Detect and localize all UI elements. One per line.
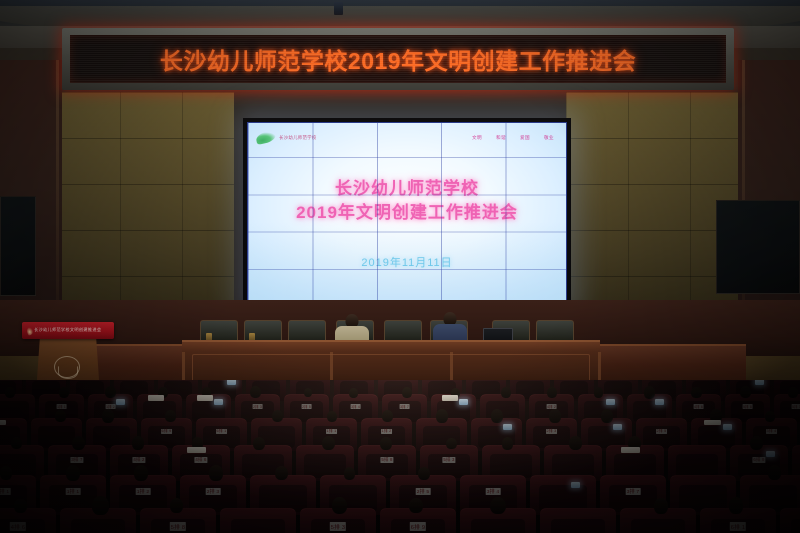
slide-word-4: 敬业 — [544, 135, 554, 141]
audience-member — [446, 438, 456, 450]
seat-number-label: 1排 1 — [56, 404, 67, 409]
phone-screen — [723, 424, 732, 430]
seat-number-label: 6排 1 — [730, 522, 746, 531]
document-paper — [0, 420, 6, 426]
slide-title-line-1: 长沙幼儿师范学校 — [248, 177, 566, 201]
podium-swoosh-icon — [26, 326, 34, 335]
audience-member — [402, 387, 412, 398]
audience-member — [740, 386, 751, 398]
audience-member — [491, 409, 503, 422]
audience-member — [250, 386, 261, 398]
audience-member — [501, 387, 511, 398]
auditorium-scene: 长沙幼儿师范学校2019年文明创建工作推进会 长沙幼儿师范学校 文明 和谐 爱国… — [0, 0, 800, 533]
audience-member — [382, 410, 393, 422]
podium-emblem-icon — [54, 356, 80, 378]
seat-cushion — [791, 519, 800, 533]
document-paper — [187, 447, 207, 453]
slide-title: 长沙幼儿师范学校 2019年文明创建工作推进会 — [248, 177, 566, 225]
audience-seat — [220, 508, 296, 533]
seat-number-label: 4排 6 — [194, 457, 207, 463]
audience-member — [92, 496, 109, 515]
seat-number-label: 3排 4 — [766, 429, 778, 434]
audience-member — [272, 410, 283, 422]
wall-seam-left — [56, 60, 59, 340]
seat-number-label: 4排 2 — [546, 404, 557, 409]
document-paper — [704, 420, 721, 426]
seat-number-label: 3排 7 — [399, 404, 410, 409]
phone-screen — [655, 399, 664, 405]
audience-member — [750, 436, 763, 450]
seat-number-label: 6排 9 — [410, 522, 426, 531]
audience-member — [66, 465, 80, 481]
slide-top-right-words: 文明 和谐 爱国 敬业 — [472, 135, 554, 141]
seat-cushion — [471, 519, 526, 533]
slide-logo: 长沙幼儿师范学校 — [256, 132, 317, 143]
audience-member — [549, 409, 561, 422]
seat-cushion — [71, 519, 126, 533]
slide-logo-text: 长沙幼儿师范学校 — [279, 135, 317, 141]
seat-cushion — [631, 519, 686, 533]
phone-screen — [214, 399, 223, 405]
audience-member — [502, 437, 514, 450]
audience-seat — [540, 508, 616, 533]
audience-member — [409, 498, 423, 513]
seat-number-label: 2排 5 — [416, 488, 431, 495]
phone-screen — [755, 380, 764, 385]
audience-member — [380, 437, 392, 450]
audience-member — [768, 465, 782, 480]
slide-word-1: 文明 — [472, 135, 482, 141]
document-paper — [148, 395, 163, 400]
wall-display-panel-right — [716, 200, 800, 294]
audience-member — [418, 467, 430, 480]
audience-member — [654, 498, 668, 514]
seat-number-label: 2排 5 — [301, 404, 312, 409]
seat-number-label: 1排 2 — [136, 488, 151, 495]
audience-member — [209, 465, 224, 481]
seat-number-label: 6排 9 — [752, 457, 765, 463]
phone-screen — [571, 482, 580, 488]
seat-number-label: 3排 7 — [626, 488, 641, 495]
seat-number-label: 4排 2 — [132, 457, 145, 463]
audience-member — [134, 465, 149, 481]
seat-cushion — [551, 519, 606, 533]
phone-screen — [766, 451, 775, 457]
wall-display-panel-left — [0, 196, 36, 296]
seat-number-label: 6排 1 — [216, 429, 228, 434]
phone-screen — [613, 424, 622, 430]
audience-member — [0, 466, 12, 480]
seat-number-label: 1排 2 — [105, 404, 116, 409]
audience-seat: 4排 6 — [0, 508, 56, 533]
document-paper — [621, 447, 641, 453]
phone-screen — [606, 399, 615, 405]
seat-number-label: 2排 5 — [656, 429, 668, 434]
audience-member — [436, 409, 448, 422]
podium-banner: 长沙幼儿师范学校文明创建推进会 — [22, 322, 114, 339]
audience-member — [59, 387, 69, 398]
audience-member — [691, 387, 701, 398]
audience-member — [275, 466, 288, 480]
seat-number-label: 1排 2 — [381, 429, 393, 434]
slide-date: 2019年11月11日 — [248, 254, 566, 270]
audience-member — [349, 388, 358, 398]
seat-number-label: 3排 4 — [350, 404, 361, 409]
audience-member — [14, 499, 27, 513]
audience-member — [102, 409, 114, 422]
audience-member — [327, 411, 337, 422]
audience-seating: 1排 11排 22排 32排 53排 43排 74排 24排 65排 85排 3… — [0, 380, 800, 533]
audience-member — [105, 386, 116, 398]
seat-number-label: 5排 3 — [791, 404, 800, 409]
audience-member — [253, 437, 265, 450]
seat-number-label: 1排 1 — [326, 429, 338, 434]
audience-member — [72, 436, 85, 451]
podium-banner-text: 长沙幼儿师范学校文明创建推进会 — [34, 327, 101, 333]
audience-member — [165, 410, 176, 422]
seat-number-label: 4排 6 — [693, 404, 704, 409]
seat-number-label: 2排 3 — [252, 404, 263, 409]
seat-number-label: 5排 3 — [442, 457, 455, 463]
slide-title-line-2: 2019年文明创建工作推进会 — [248, 201, 566, 225]
audience-member — [594, 387, 603, 397]
seat-number-label: 5排 8 — [170, 522, 186, 531]
slide-word-3: 爱国 — [520, 135, 530, 141]
audience-member — [788, 387, 798, 399]
phone-screen — [503, 424, 512, 430]
seat-number-label: 3排 4 — [486, 488, 501, 495]
audience-member — [5, 387, 15, 398]
audience-member — [11, 437, 22, 449]
seat-number-label: 6排 9 — [161, 429, 173, 434]
seat-number-label: 5排 3 — [330, 522, 346, 531]
slide-word-2: 和谐 — [496, 135, 506, 141]
phone-screen — [116, 399, 125, 405]
document-paper — [197, 395, 212, 400]
seat-number-label: 2排 3 — [546, 429, 558, 434]
seat-cushion — [231, 519, 286, 533]
seat-number-label: 3排 7 — [70, 457, 83, 463]
projection-screen-surface: 长沙幼儿师范学校 文明 和谐 爱国 敬业 长沙幼儿师范学校 2019年文明创建工… — [247, 122, 567, 308]
seat-number-label: 4排 6 — [10, 522, 26, 531]
swoosh-icon — [255, 130, 277, 145]
audience-member — [644, 386, 655, 399]
led-banner-text: 长沙幼儿师范学校2019年文明创建工作推进会 — [160, 42, 636, 76]
audience-member — [55, 410, 65, 422]
ceiling-projector-icon — [334, 2, 343, 15]
seat-number-label: 6排 1 — [0, 488, 10, 495]
phone-screen — [459, 399, 468, 405]
audience-member — [170, 498, 184, 513]
led-banner: 长沙幼儿师范学校2019年文明创建工作推进会 — [62, 28, 734, 90]
seat-number-label: 1排 1 — [66, 488, 81, 495]
document-paper — [442, 395, 457, 400]
audience-member — [490, 497, 506, 515]
audience-member — [601, 409, 614, 423]
wall-panel-left — [58, 92, 234, 322]
led-banner-screen: 长沙幼儿师范学校2019年文明创建工作推进会 — [70, 35, 726, 83]
audience-member — [344, 467, 355, 480]
audience-member — [132, 436, 145, 450]
phone-screen — [227, 380, 236, 385]
seat-number-label: 2排 3 — [206, 488, 221, 495]
audience-member — [547, 387, 557, 398]
audience-member — [332, 497, 348, 515]
seat-number-label: 5排 8 — [742, 404, 753, 409]
audience-member — [765, 411, 775, 422]
seat-number-label: 5排 8 — [380, 457, 393, 463]
audience-member — [569, 436, 582, 450]
audience-member — [729, 497, 744, 513]
audience-seat: 1排 1 — [780, 508, 800, 533]
projection-screen: 长沙幼儿师范学校 文明 和谐 爱国 敬业 长沙幼儿师范学校 2019年文明创建工… — [243, 118, 571, 312]
audience-member — [322, 436, 335, 450]
